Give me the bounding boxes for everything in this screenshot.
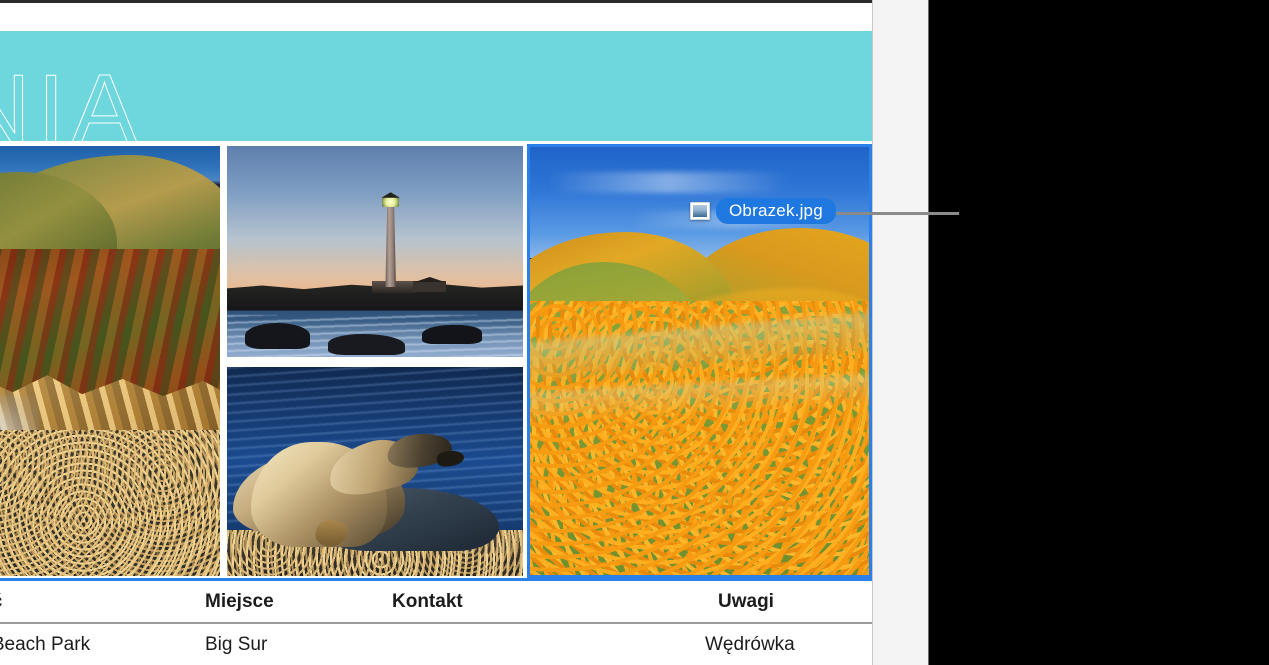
lighthouse-rock-1 (245, 323, 310, 348)
callout-leader-line (836, 212, 959, 215)
page-title: RNIA (0, 60, 144, 158)
photo-coastal-cliffs[interactable] (0, 146, 220, 576)
coast-pebble-beach (0, 430, 220, 576)
lighthouse-keeper-house (413, 281, 446, 292)
data-table[interactable]: ność Miejsce Kontakt Uwagi e Beach Park … (0, 578, 872, 665)
table-row[interactable]: e Beach Park Big Sur Wędrówka (0, 624, 872, 665)
lighthouse-rock-3 (422, 325, 481, 344)
column-header-miejsce: Miejsce (205, 591, 274, 613)
selection-badge[interactable]: Obrazek.jpg (690, 198, 836, 224)
document-top-rule (0, 0, 872, 3)
cell-miejsce: Big Sur (205, 634, 267, 656)
page-gutter (872, 0, 929, 665)
title-banner[interactable]: RNIA (0, 31, 872, 141)
photo-lighthouse[interactable] (227, 146, 523, 357)
photo-sea-lions[interactable] (227, 367, 523, 576)
screen-root: RNIA (0, 0, 1269, 665)
lighthouse-rock-2 (328, 334, 405, 355)
cell-nosc: e Beach Park (0, 634, 90, 656)
table-header-row: ność Miejsce Kontakt Uwagi (0, 581, 872, 622)
column-header-uwagi: Uwagi (718, 591, 774, 613)
lighthouse-lamp (382, 197, 399, 208)
column-header-kontakt: Kontakt (392, 591, 463, 613)
image-thumbnail-icon (690, 202, 710, 220)
column-header-nosc: ność (0, 591, 2, 613)
cell-uwagi: Wędrówka (705, 634, 795, 656)
document-page[interactable]: RNIA (0, 0, 872, 665)
selected-filename-label: Obrazek.jpg (716, 198, 836, 224)
